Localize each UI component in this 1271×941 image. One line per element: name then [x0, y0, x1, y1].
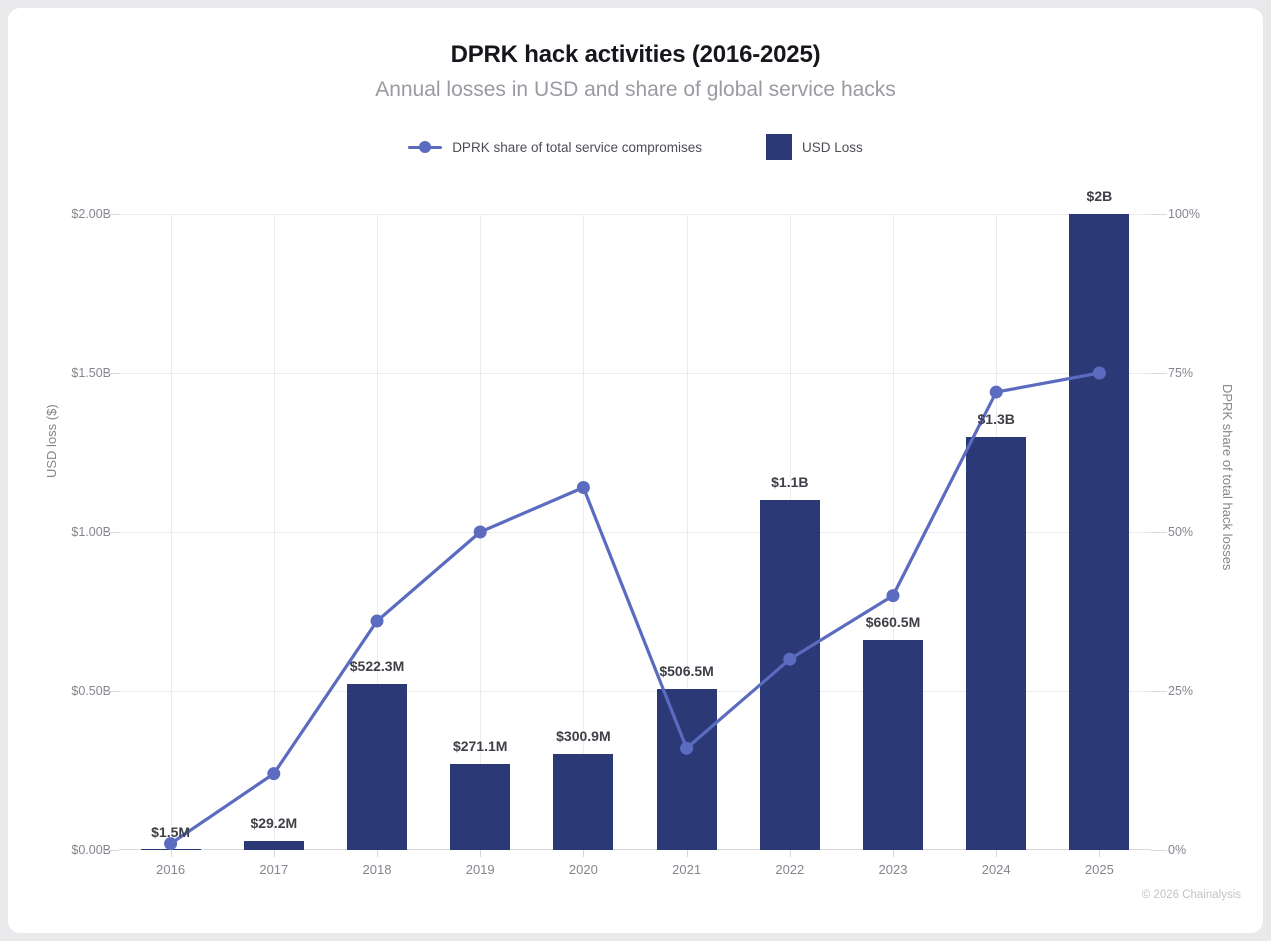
line-point-2021[interactable]: 2021: 16% — [680, 742, 693, 755]
x-axis-tick-mark — [790, 850, 791, 857]
y-axis-left-tick-mark — [103, 532, 119, 533]
line-point-2017[interactable]: 2017: 12% — [267, 767, 280, 780]
x-axis-tick-mark — [274, 850, 275, 857]
line-point-2019[interactable]: 2019: 50% — [474, 526, 487, 539]
x-axis-tick-mark — [480, 850, 481, 857]
line-point-2025[interactable]: 2025: 75% — [1093, 367, 1106, 380]
line-series-dprk-share: 2016: 1%2017: 12%2018: 36%2019: 50%2020:… — [119, 214, 1151, 850]
bar-value-label: $300.9M — [556, 728, 610, 744]
legend-label-usd-loss: USD Loss — [802, 140, 863, 155]
page-title: DPRK hack activities (2016-2025) — [8, 41, 1263, 69]
y-axis-right-tick: 100% — [1168, 207, 1200, 221]
bar-value-label: $29.2M — [250, 815, 297, 831]
chart-legend: DPRK share of total service compromises … — [8, 134, 1263, 160]
line-marker-icon — [408, 140, 442, 154]
x-axis-tick-2022: 2022 — [775, 862, 804, 877]
x-axis-tick-mark — [996, 850, 997, 857]
x-axis-tick-2019: 2019 — [466, 862, 495, 877]
line-path — [171, 373, 1100, 844]
bar-value-label: $2B — [1087, 188, 1113, 204]
bar-swatch-icon — [766, 134, 792, 160]
legend-label-dprk-share: DPRK share of total service compromises — [452, 140, 702, 155]
footer-credit: © 2026 Chainalysis — [1142, 889, 1241, 901]
y-axis-left-tick-mark — [103, 850, 119, 851]
y-axis-left-label: USD loss ($) — [44, 404, 59, 478]
x-axis-tick-mark — [583, 850, 584, 857]
x-axis-tick-2017: 2017 — [259, 862, 288, 877]
x-axis-tick-2024: 2024 — [982, 862, 1011, 877]
bar-value-label: $271.1M — [453, 738, 507, 754]
x-axis-tick-mark — [687, 850, 688, 857]
bar-value-label: $1.5M — [151, 824, 190, 840]
x-axis-tick-mark — [171, 850, 172, 857]
x-axis-tick-2016: 2016 — [156, 862, 185, 877]
x-axis-tick-2020: 2020 — [569, 862, 598, 877]
y-axis-right-tick: 50% — [1168, 525, 1193, 539]
y-axis-right-tick-mark — [1151, 214, 1167, 215]
x-axis-tick-mark — [893, 850, 894, 857]
line-point-2023[interactable]: 2023: 40% — [887, 589, 900, 602]
chart-subtitle: Annual losses in USD and share of global… — [8, 78, 1263, 102]
y-axis-right-tick-mark — [1151, 373, 1167, 374]
x-axis-tick-2025: 2025 — [1085, 862, 1114, 877]
line-point-2018[interactable]: 2018: 36% — [371, 615, 384, 628]
bar-value-label: $506.5M — [659, 663, 713, 679]
x-axis-tick-2021: 2021 — [672, 862, 701, 877]
y-axis-left-tick-mark — [103, 373, 119, 374]
y-axis-right-tick-mark — [1151, 532, 1167, 533]
legend-item-dprk-share[interactable]: DPRK share of total service compromises — [408, 140, 702, 155]
y-axis-left-tick-mark — [103, 691, 119, 692]
y-axis-right-tick: 75% — [1168, 366, 1193, 380]
y-axis-right-tick-mark — [1151, 691, 1167, 692]
bar-value-label: $660.5M — [866, 614, 920, 630]
plot-area: 2016: 1%2017: 12%2018: 36%2019: 50%2020:… — [119, 214, 1151, 850]
x-axis-tick-mark — [377, 850, 378, 857]
line-point-2022[interactable]: 2022: 30% — [783, 653, 796, 666]
bar-value-label: $522.3M — [350, 658, 404, 674]
chart-card: DPRK hack activities (2016-2025) Annual … — [8, 8, 1263, 933]
legend-item-usd-loss[interactable]: USD Loss — [766, 134, 863, 160]
x-axis-tick-2018: 2018 — [363, 862, 392, 877]
y-axis-right-tick: 0% — [1168, 843, 1186, 857]
y-axis-right-label: DPRK share of total hack losses — [1220, 384, 1235, 570]
line-point-2024[interactable]: 2024: 72% — [990, 386, 1003, 399]
y-axis-right-tick: 25% — [1168, 684, 1193, 698]
y-axis-left-tick-mark — [103, 214, 119, 215]
x-axis-tick-mark — [1099, 850, 1100, 857]
bar-value-label: $1.3B — [978, 411, 1015, 427]
bar-value-label: $1.1B — [771, 474, 808, 490]
y-axis-right-tick-mark — [1151, 850, 1167, 851]
line-point-2020[interactable]: 2020: 57% — [577, 481, 590, 494]
x-axis-tick-2023: 2023 — [879, 862, 908, 877]
